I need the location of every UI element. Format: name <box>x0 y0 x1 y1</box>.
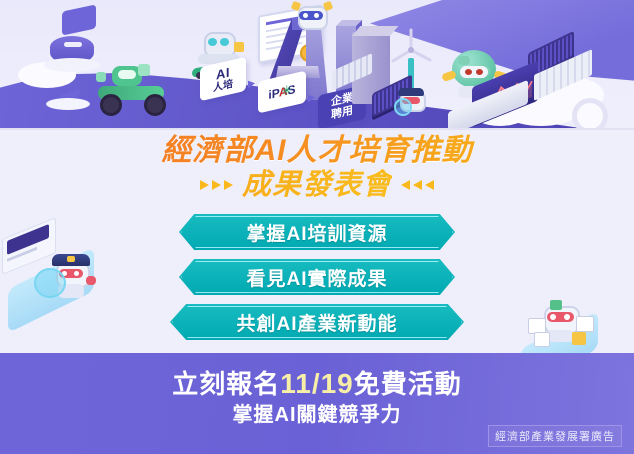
badge-label: 掌握AI培訓資源 <box>246 219 387 246</box>
badge-new-momentum[interactable]: 共創AI產業新動能 <box>170 304 464 340</box>
robot-police-header <box>394 86 428 120</box>
arrow-right-icon <box>248 79 255 89</box>
cta-line-2: 掌握AI關鍵競爭力 <box>0 398 634 427</box>
cta-suffix: 免費活動 <box>354 369 462 399</box>
badge-real-results[interactable]: 看見AI實際成果 <box>179 259 455 295</box>
title-line-2: 成果發表會 <box>242 169 392 201</box>
pedestal-base <box>44 58 100 72</box>
badge-list: 掌握AI培訓資源 看見AI實際成果 共創AI產業新動能 <box>0 214 634 340</box>
badge-training-resources[interactable]: 掌握AI培訓資源 <box>179 214 455 250</box>
badge-label: 看見AI實際成果 <box>246 264 387 291</box>
laptop-chart <box>448 74 540 122</box>
cta-event-date: 11/19 <box>280 368 354 399</box>
arrows-left-group <box>200 180 233 190</box>
arrows-right-group <box>401 180 434 190</box>
cta-band: 立刻報名11/19免費活動 掌握AI關鍵競爭力 經濟部產業發展署廣告 <box>0 353 634 454</box>
cta-line-1: 立刻報名11/19免費活動 <box>0 364 634 401</box>
robot-on-logo <box>290 2 334 32</box>
gear-icon <box>572 98 608 130</box>
header-illustration: AI 人培 iPAS ✳ 企業聘用 <box>0 0 634 130</box>
title-line-1: 經濟部AI人才培育推動 <box>0 134 634 168</box>
stick-base <box>46 98 90 110</box>
cta-prefix: 立刻報名 <box>172 369 280 399</box>
promo-banner: AI 人培 iPAS ✳ 企業聘用 <box>0 0 634 454</box>
pedestal-highlight <box>64 42 82 47</box>
badge-label: 共創AI產業新動能 <box>236 309 397 336</box>
advertiser-attribution: 經濟部產業發展署廣告 <box>488 425 622 447</box>
header-divider <box>0 128 634 130</box>
title-line-2-row: 成果發表會 <box>0 169 634 201</box>
arrow-right-icon <box>308 93 315 103</box>
title-block: 經濟部AI人才培育推動 成果發表會 <box>0 134 634 201</box>
robot-motorcycle <box>96 62 168 110</box>
wind-turbine-blades-icon <box>386 28 436 68</box>
